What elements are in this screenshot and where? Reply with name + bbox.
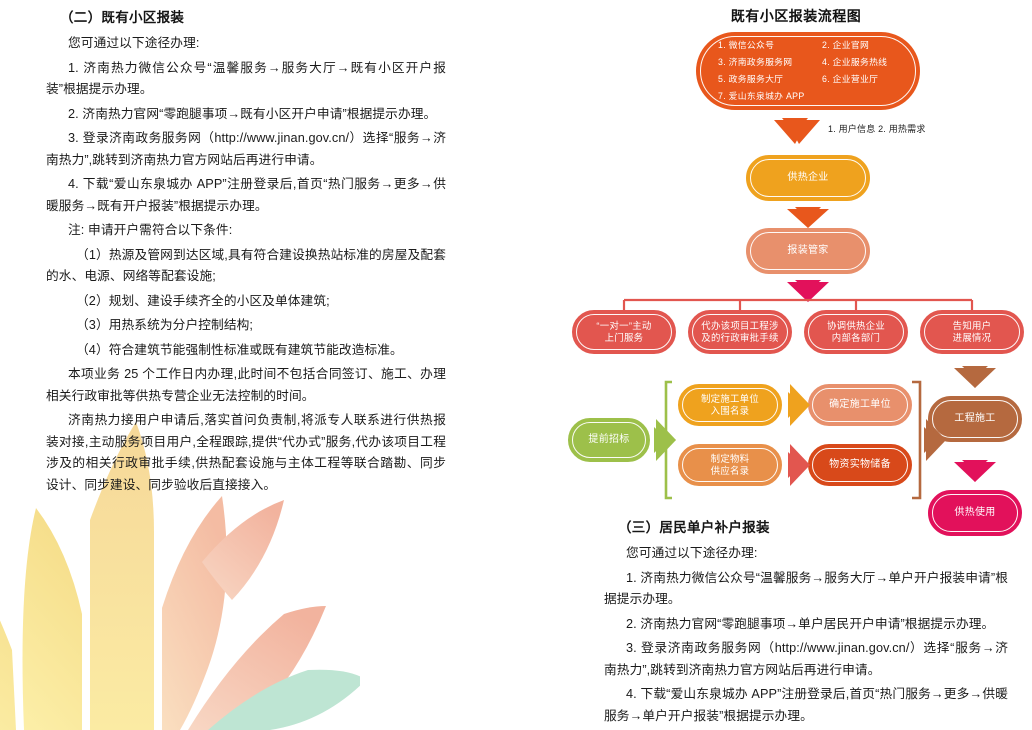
entry-channel-3: 3. 济南政务服务网 (718, 55, 822, 70)
flow-node-label: 制定施工单位 入围名录 (695, 393, 765, 418)
bracket-close-brown (912, 382, 920, 498)
flow-node-label: 告知用户 进展情况 (947, 320, 998, 345)
left-para-11: 济南热力接用户申请后,落实首问负责制,将派专人联系进行供热报装对接,主动服务项目… (46, 410, 446, 496)
flowchart: 既有小区报装流程图 (560, 0, 1032, 545)
flow-node-label: “一对一”主动 上门服务 (590, 320, 657, 345)
left-para-0: 您可通过以下途径办理: (46, 33, 446, 55)
flow-node-butler[interactable]: 报装管家 (746, 228, 870, 274)
right-para-4: 4. 下载“爱山东泉城办 APP”注册登录后,首页“热门服务→更多→供暖服务→单… (604, 684, 1008, 727)
entry-channel-list: 1. 微信公众号 2. 企业官网 3. 济南政务服务网 4. 企业服务热线 5.… (704, 38, 912, 104)
left-para-2: 2. 济南热力官网“零跑腿事项→既有小区开户申请”根据提示办理。 (46, 104, 446, 126)
section-heading-2: （二）既有小区报装 (60, 6, 446, 26)
chevron-right-icon-red (788, 444, 810, 486)
flow-node-label: 确定施工单位 (823, 399, 897, 412)
service-bus-connector (624, 300, 972, 312)
left-text-column: （二）既有小区报装 您可通过以下途径办理: 1. 济南热力微信公众号“温馨服务→… (46, 6, 446, 499)
flow-node-entry-channels[interactable]: 1. 微信公众号 2. 企业官网 3. 济南政务服务网 4. 企业服务热线 5.… (696, 32, 920, 110)
flow-node-confirm-contractor[interactable]: 确定施工单位 (808, 384, 912, 426)
flow-node-contractor-roster[interactable]: 制定施工单位 入围名录 (678, 384, 782, 426)
left-para-9: （4）符合建筑节能强制性标准或既有建筑节能改造标准。 (46, 340, 446, 362)
right-para-3: 3. 登录济南政务服务网（http://www.jinan.gov.cn/）选择… (604, 638, 1008, 681)
chevron-down-icon-crimson (954, 460, 996, 482)
flow-node-service-2[interactable]: 代办该项目工程涉 及的行政审批手续 (688, 310, 792, 354)
flowchart-title: 既有小区报装流程图 (560, 6, 1032, 26)
chevron-right-icon-green (654, 419, 676, 461)
right-text-column: （三）居民单户补户报装 您可通过以下途径办理: 1. 济南热力微信公众号“温馨服… (604, 516, 1008, 730)
flow-node-service-1[interactable]: “一对一”主动 上门服务 (572, 310, 676, 354)
chevron-down-icon-brown (954, 366, 996, 388)
entry-channel-2: 2. 企业官网 (822, 38, 926, 53)
chevron-down-icon-3 (787, 280, 829, 302)
flow-node-service-3[interactable]: 协调供热企业 内部各部门 (804, 310, 908, 354)
left-para-4: 4. 下载“爱山东泉城办 APP”注册登录后,首页“热门服务→更多→供暖服务→既… (46, 174, 446, 217)
flow-node-label: 制定物料 供应名录 (705, 453, 756, 478)
flow-node-advance-bid[interactable]: 提前招标 (568, 418, 650, 462)
left-para-10: 本项业务 25 个工作日内办理,此时间不包括合同签订、施工、办理相关行政审批等供… (46, 364, 446, 407)
right-para-2: 2. 济南热力官网“零跑腿事项→单户居民开户申请”根据提示办理。 (604, 614, 1008, 636)
flow-node-service-4[interactable]: 告知用户 进展情况 (920, 310, 1024, 354)
bracket-open-green (666, 382, 672, 498)
flow-node-heating-use[interactable]: 供热使用 (928, 490, 1022, 536)
chevron-down-icon-2 (787, 207, 829, 228)
flow-node-label: 提前招标 (582, 434, 635, 447)
entry-channel-6: 6. 企业营业厅 (822, 72, 926, 87)
left-para-5: 注: 申请开户需符合以下条件: (46, 220, 446, 242)
flow-node-label: 工程施工 (948, 413, 1001, 426)
left-para-1: 1. 济南热力微信公众号“温馨服务→服务大厅→既有小区开户报装”根据提示办理。 (46, 58, 446, 101)
entry-channel-7: 7. 爱山东泉城办 APP (718, 89, 822, 104)
entry-channel-4: 4. 企业服务热线 (822, 55, 926, 70)
left-para-3: 3. 登录济南政务服务网（http://www.jinan.gov.cn/）选择… (46, 128, 446, 171)
left-para-6: （1）热源及管网到达区域,具有符合建设换热站标准的房屋及配套的水、电源、网络等配… (46, 245, 446, 288)
left-para-8: （3）用热系统为分户控制结构; (46, 315, 446, 337)
flow-node-label: 供热使用 (948, 507, 1001, 520)
flow-node-supply-enterprise[interactable]: 供热企业 (746, 155, 870, 201)
entry-channel-5: 5. 政务服务大厅 (718, 72, 822, 87)
right-para-1: 1. 济南热力微信公众号“温馨服务→服务大厅→单户开户报装申请”根据提示办理。 (604, 568, 1008, 611)
flow-node-label: 报装管家 (781, 245, 834, 258)
flow-node-label: 物资实物储备 (823, 459, 897, 472)
chevron-down-icon-1 (774, 118, 820, 144)
flow-node-label: 协调供热企业 内部各部门 (821, 320, 891, 345)
left-para-7: （2）规划、建设手续齐全的小区及单体建筑; (46, 291, 446, 313)
entry-channel-1: 1. 微信公众号 (718, 38, 822, 53)
flow-node-label: 供热企业 (781, 172, 834, 185)
arrow-note: 1. 用户信息 2. 用热需求 (828, 122, 926, 135)
right-para-0: 您可通过以下途径办理: (604, 543, 1008, 565)
flow-node-construction[interactable]: 工程施工 (928, 396, 1022, 442)
flow-node-material-stock[interactable]: 物资实物储备 (808, 444, 912, 486)
chevron-right-icon-amber (788, 384, 810, 426)
flow-node-material-roster[interactable]: 制定物料 供应名录 (678, 444, 782, 486)
flow-node-label: 代办该项目工程涉 及的行政审批手续 (695, 320, 784, 345)
